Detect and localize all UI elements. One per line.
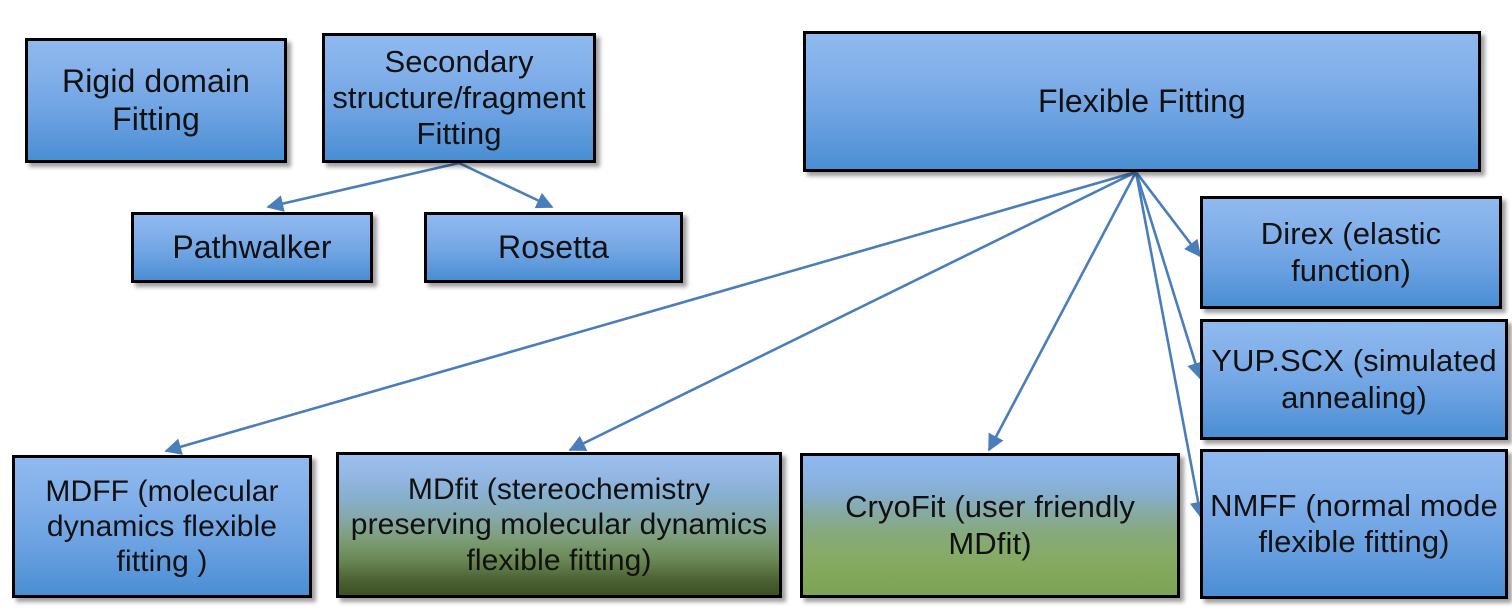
node-direx[interactable]: Direx (elastic function) (1200, 196, 1502, 309)
edge-flexible-to-cryofit (989, 172, 1136, 450)
node-pathwalker[interactable]: Pathwalker (131, 212, 373, 283)
node-label: NMFF (normal mode flexible fitting) (1203, 488, 1505, 561)
node-label: Flexible Fitting (806, 83, 1478, 120)
edge-flexible-to-direx (1136, 172, 1200, 256)
node-label: YUP.SCX (simulated annealing) (1203, 343, 1505, 416)
node-label: MDfit (stereochemistry preserving molecu… (339, 472, 779, 577)
edge-secondary-to-pathwalker (268, 163, 459, 207)
node-label: Rigid domain Fitting (28, 63, 284, 138)
node-label: Direx (elastic function) (1203, 216, 1499, 289)
node-flexible-fitting[interactable]: Flexible Fitting (803, 31, 1481, 172)
node-mdfit[interactable]: MDfit (stereochemistry preserving molecu… (336, 452, 782, 598)
diagram-canvas: Rigid domain Fitting Secondary structure… (0, 0, 1512, 610)
node-nmff[interactable]: NMFF (normal mode flexible fitting) (1200, 449, 1508, 599)
node-yup-scx[interactable]: YUP.SCX (simulated annealing) (1200, 319, 1508, 440)
node-rosetta[interactable]: Rosetta (424, 212, 683, 283)
edge-secondary-to-rosetta (459, 163, 552, 207)
node-label: CryoFit (user friendly MDfit) (803, 489, 1177, 562)
node-rigid-domain-fitting[interactable]: Rigid domain Fitting (25, 38, 287, 163)
node-secondary-structure-fitting[interactable]: Secondary structure/fragment Fitting (322, 33, 596, 163)
node-label: Pathwalker (134, 229, 370, 266)
edge-flexible-to-yupscx (1136, 172, 1200, 378)
node-label: MDFF (molecular dynamics flexible fittin… (15, 474, 309, 579)
node-label: Secondary structure/fragment Fitting (325, 44, 593, 153)
node-cryofit[interactable]: CryoFit (user friendly MDfit) (800, 453, 1180, 598)
node-mdff[interactable]: MDFF (molecular dynamics flexible fittin… (12, 455, 312, 598)
node-label: Rosetta (427, 229, 680, 266)
